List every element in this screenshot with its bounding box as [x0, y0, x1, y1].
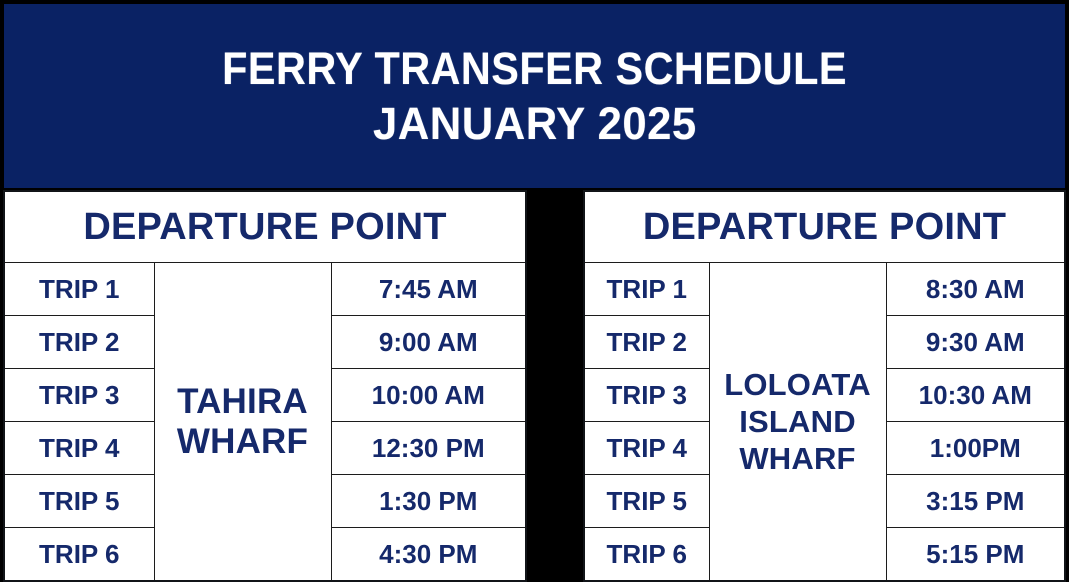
departure-point-line: WHARF — [155, 422, 331, 462]
departure-point-name: TAHIRA WHARF — [154, 263, 331, 582]
trip-label: TRIP 3 — [4, 369, 154, 422]
departure-time: 7:45 AM — [331, 263, 526, 316]
trip-label: TRIP 1 — [584, 263, 709, 316]
departure-time: 3:15 PM — [886, 475, 1065, 528]
departure-point-name: LOLOATA ISLAND WHARF — [709, 263, 886, 582]
ferry-schedule-poster: FERRY TRANSFER SCHEDULE JANUARY 2025 DEP… — [0, 0, 1069, 574]
trip-label: TRIP 5 — [584, 475, 709, 528]
trip-label: TRIP 1 — [4, 263, 154, 316]
departure-time: 8:30 AM — [886, 263, 1065, 316]
departure-time: 12:30 PM — [331, 422, 526, 475]
departure-point-line: ISLAND — [710, 403, 886, 440]
departure-point-header: DEPARTURE POINT — [4, 191, 526, 263]
schedule-table-tahira-wharf: DEPARTURE POINT TRIP 1 TAHIRA WHARF 7:45… — [3, 190, 527, 582]
poster-subtitle: JANUARY 2025 — [373, 97, 697, 151]
departure-time: 10:00 AM — [331, 369, 526, 422]
departure-point-line: WHARF — [710, 440, 886, 477]
departure-time: 1:00PM — [886, 422, 1065, 475]
trip-label: TRIP 2 — [4, 316, 154, 369]
departure-point-line: LOLOATA — [710, 366, 886, 403]
departure-point-header: DEPARTURE POINT — [584, 191, 1065, 263]
poster-banner: FERRY TRANSFER SCHEDULE JANUARY 2025 — [4, 4, 1065, 188]
departure-time: 1:30 PM — [331, 475, 526, 528]
poster-title: FERRY TRANSFER SCHEDULE — [222, 41, 847, 97]
trip-label: TRIP 6 — [584, 528, 709, 582]
table-row: TRIP 1 LOLOATA ISLAND WHARF 8:30 AM — [584, 263, 1065, 316]
trip-label: TRIP 5 — [4, 475, 154, 528]
departure-time: 4:30 PM — [331, 528, 526, 582]
departure-time: 5:15 PM — [886, 528, 1065, 582]
departure-time: 10:30 AM — [886, 369, 1065, 422]
trip-label: TRIP 4 — [4, 422, 154, 475]
table-header-row: DEPARTURE POINT — [4, 191, 526, 263]
table-header-row: DEPARTURE POINT — [584, 191, 1065, 263]
trip-label: TRIP 3 — [584, 369, 709, 422]
departure-time: 9:00 AM — [331, 316, 526, 369]
departure-point-line: TAHIRA — [155, 382, 331, 422]
departure-time: 9:30 AM — [886, 316, 1065, 369]
trip-label: TRIP 6 — [4, 528, 154, 582]
schedule-table-loloata-island-wharf: DEPARTURE POINT TRIP 1 LOLOATA ISLAND WH… — [583, 190, 1066, 582]
table-row: TRIP 1 TAHIRA WHARF 7:45 AM — [4, 263, 526, 316]
trip-label: TRIP 2 — [584, 316, 709, 369]
trip-label: TRIP 4 — [584, 422, 709, 475]
